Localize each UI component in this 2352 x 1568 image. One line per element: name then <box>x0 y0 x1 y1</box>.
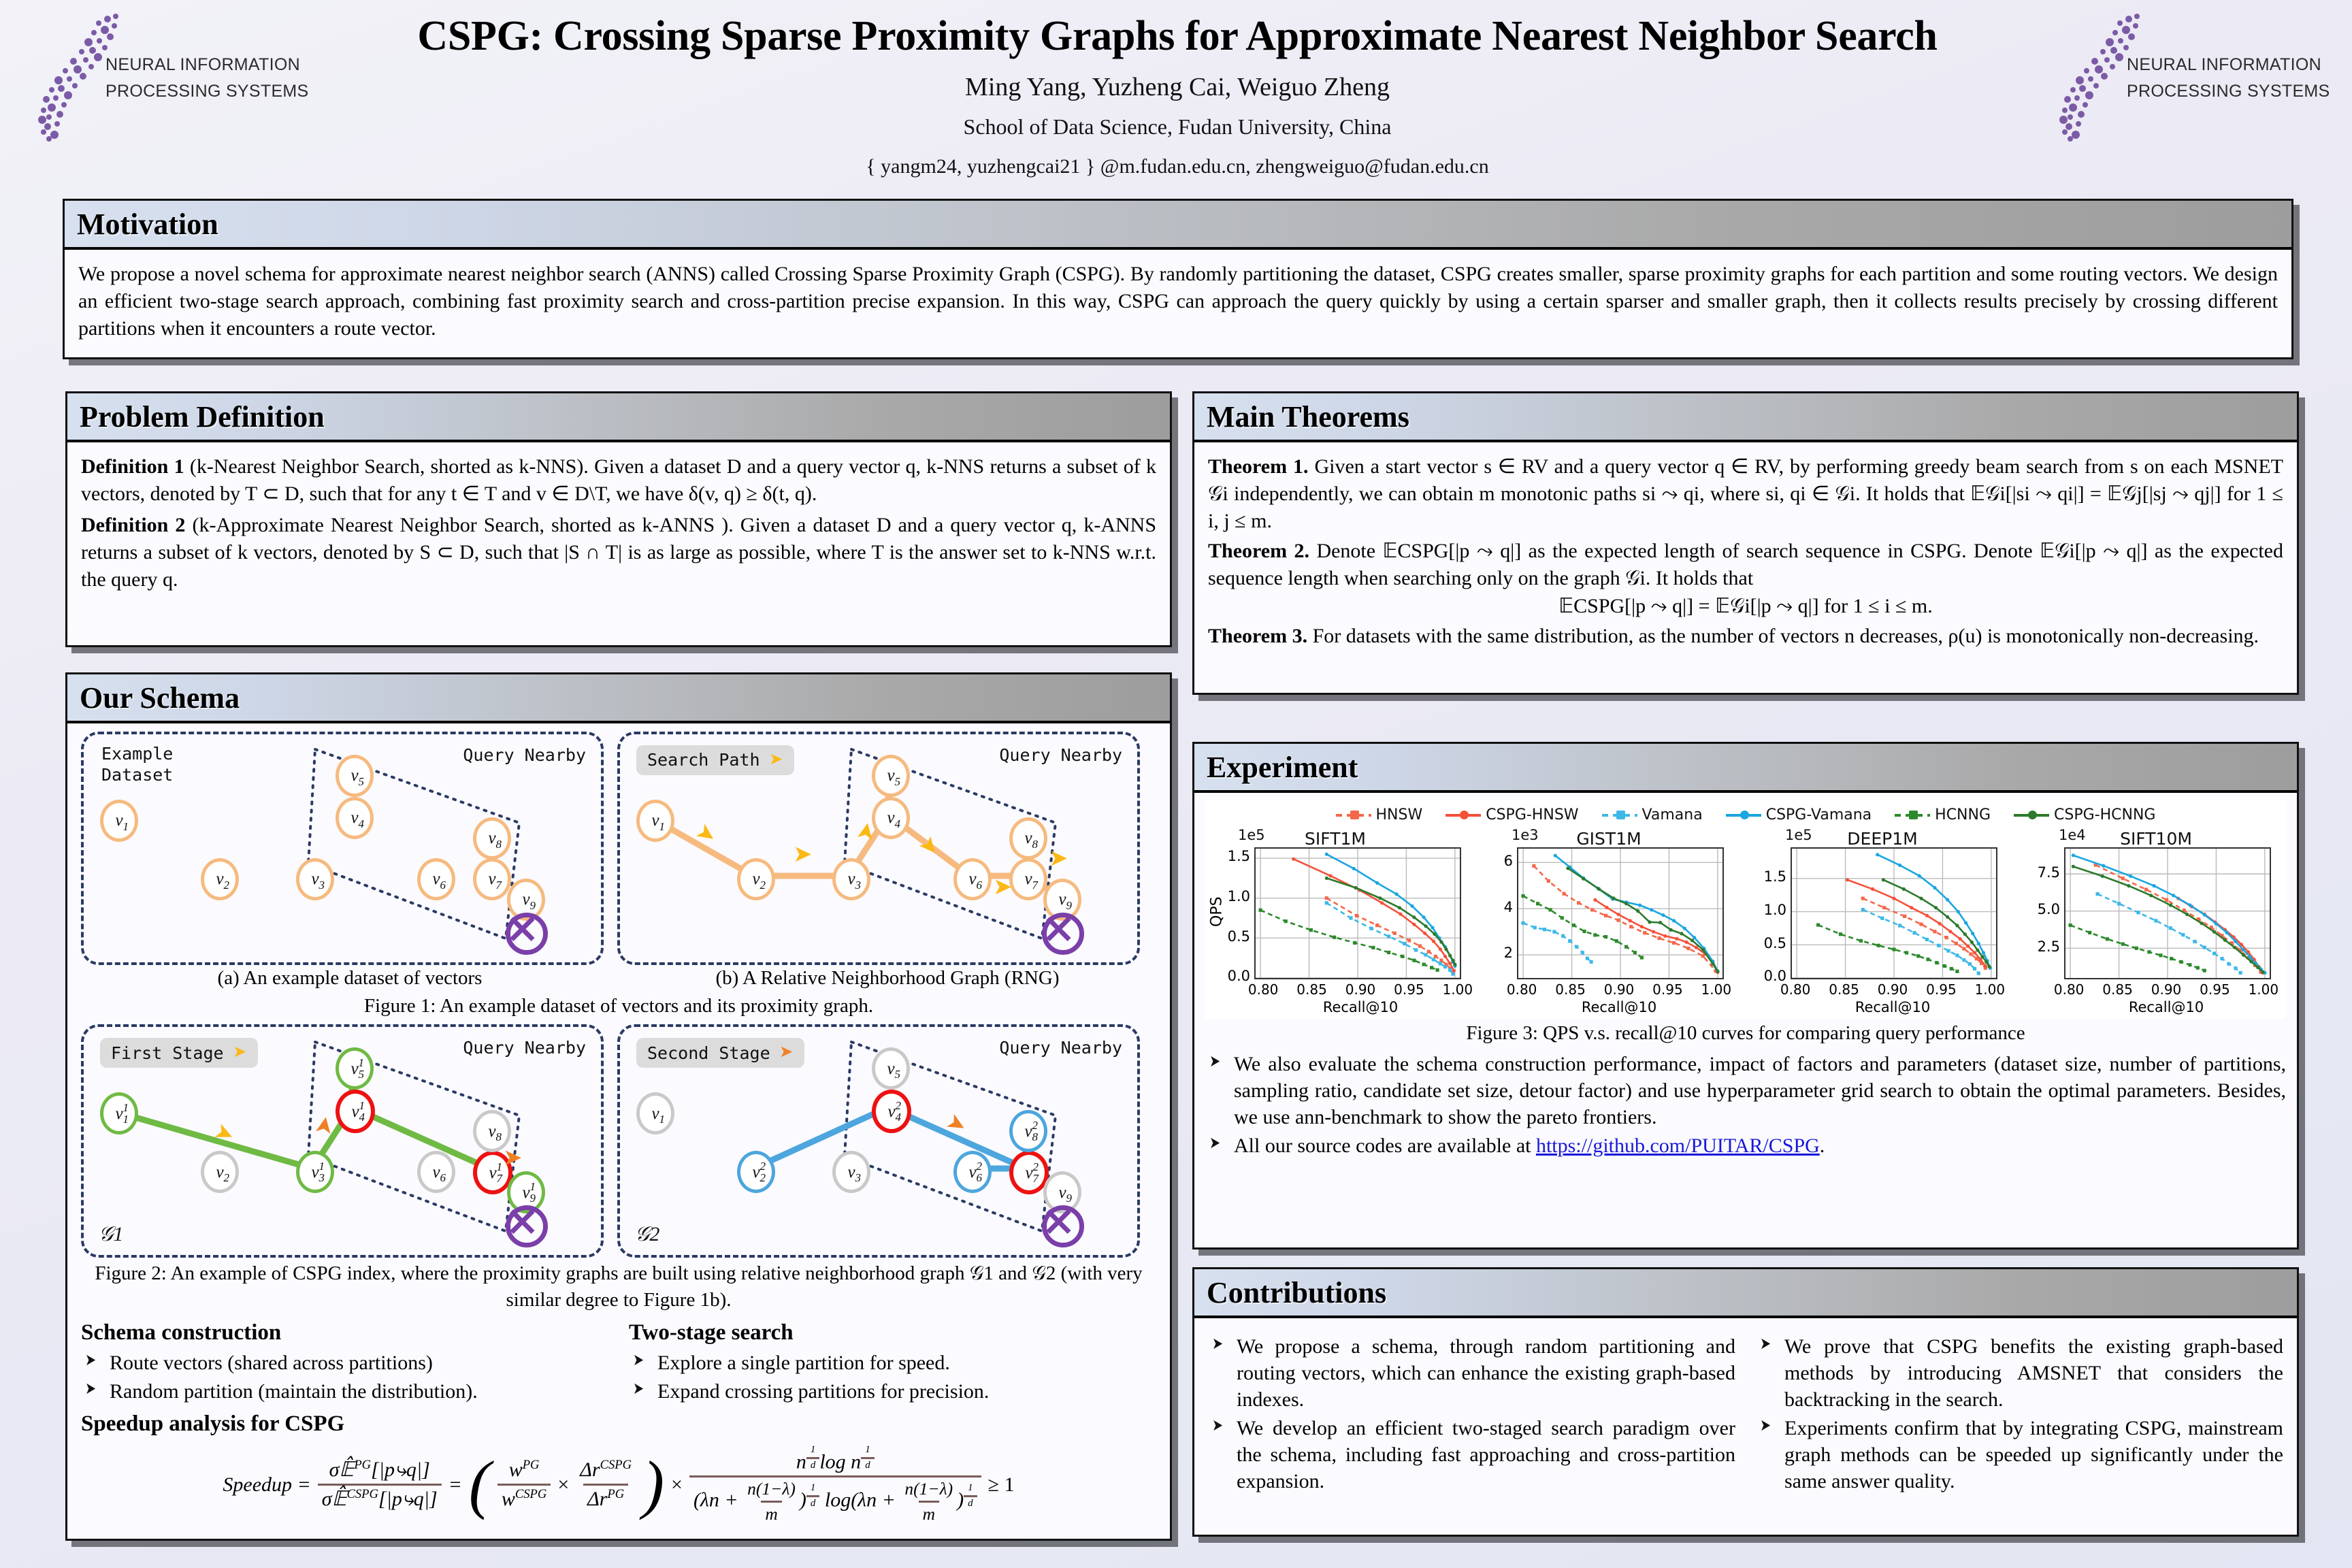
tag-line-2: Dataset <box>101 765 173 786</box>
main-theorems-panel: Main Theorems Theorem 1. Given a start v… <box>1192 391 2299 695</box>
figure-2b-legend-box: Second Stage ➤ <box>636 1038 804 1068</box>
node-v5: v5 <box>872 1047 910 1090</box>
motivation-body: We propose a novel schema for approximat… <box>65 250 2291 352</box>
x-tick-label: 1.00 <box>2249 981 2279 999</box>
theorems-title: Main Theorems <box>1207 399 1409 434</box>
figure-1b-legend-box: Search Path ➤ <box>636 745 794 775</box>
path-arrow-icon: ➤ <box>993 876 1013 899</box>
graph-1-label: 𝒢1 <box>99 1221 123 1248</box>
definition-1-label: Definition 1 <box>81 455 184 478</box>
theorem-2-label: Theorem 2. <box>1208 540 1309 562</box>
legend-label: CSPG-Vamana <box>1766 805 1872 825</box>
figure-3-charts: HNSWCSPG-HNSWVamanaCSPG-VamanaHCNNGCSPG-… <box>1205 800 2286 1019</box>
list-item: Random partition (maintain the distribut… <box>81 1378 608 1405</box>
chart-sift10m: 1e4SIFT10M2.55.07.50.800.850.900.951.00R… <box>2030 826 2282 1017</box>
two-stage-search-title: Two-stage search <box>629 1318 1156 1348</box>
x-tick-label: 0.90 <box>1604 981 1635 999</box>
y-tick-label: 6 <box>1504 852 1513 871</box>
y-tick-label: 4 <box>1504 898 1513 917</box>
node-v2: v2 <box>201 858 239 900</box>
node-v1: v1 <box>100 800 138 842</box>
definition-2-label: Definition 2 <box>81 514 185 536</box>
legend-label: CSPG-HCNNG <box>2054 805 2155 825</box>
x-axis-label: Recall@10 <box>2064 998 2268 1017</box>
neurips-logo-right: NEURAL INFORMATION PROCESSING SYSTEMS <box>2055 10 2341 146</box>
bullet-text: All our source codes are available at <box>1234 1134 1536 1157</box>
link-suffix: . <box>1820 1134 1825 1157</box>
x-tick-label: 1.00 <box>1701 981 1732 999</box>
speedup-formula: Speedup = σ𝔼̂PG[|p⤷q|] σ𝔼̂CSPG[|p⤷q|] = … <box>81 1443 1156 1526</box>
list-item: Experiments confirm that by integrating … <box>1756 1415 2283 1494</box>
node-v4: v4 <box>336 797 374 839</box>
definition-2-text: (k-Approximate Nearest Neighbor Search, … <box>81 514 1156 591</box>
second-stage-label: Second Stage <box>647 1042 770 1064</box>
contributions-columns: We propose a schema, through random part… <box>1208 1333 2283 1497</box>
contributions-right-column: We prove that CSPG benefits the existing… <box>1756 1333 2283 1497</box>
legend-line-icon <box>1602 814 1637 817</box>
schema-bullet-columns: Schema construction Route vectors (share… <box>81 1317 1156 1407</box>
node-v1: v1 <box>636 800 674 842</box>
y-tick-label: 5.0 <box>2038 900 2060 919</box>
figure-1-row: Example Dataset Query Nearby v1 v2 v3 v4… <box>81 732 1156 965</box>
theorem-1-label: Theorem 1. <box>1208 455 1309 478</box>
affiliation: School of Data Science, Fudan University… <box>272 114 2082 140</box>
x-tick-label: 0.85 <box>1555 981 1586 999</box>
chart-grid: 1e5SIFT1MQPS0.00.51.01.50.800.850.900.95… <box>1209 826 2282 1017</box>
figure-2b-panel: Second Stage ➤ Query Nearby 𝒢2 v1 v22 v3… <box>617 1024 1140 1258</box>
legend-item-cspg-vamana: CSPG-Vamana <box>1726 805 1872 825</box>
two-stage-search-list: Explore a single partition for speed. Ex… <box>629 1350 1156 1405</box>
list-item: We prove that CSPG benefits the existing… <box>1756 1333 2283 1413</box>
experiment-body: HNSWCSPG-HNSWVamanaCSPG-VamanaHCNNGCSPG-… <box>1194 793 2297 1168</box>
right-arrow-icon: ➤ <box>233 1041 247 1064</box>
node-v5: v5 <box>872 755 910 797</box>
problem-header: Problem Definition <box>67 393 1170 442</box>
x-tick-label: 0.95 <box>1926 981 1957 999</box>
x-tick-label: 0.80 <box>1780 981 1811 999</box>
figure-3-caption: Figure 3: QPS v.s. recall@10 curves for … <box>1205 1020 2286 1047</box>
node-v6: v6 <box>953 858 992 900</box>
legend-item-hnsw: HNSW <box>1336 805 1423 825</box>
y-axis-ticks: 0.00.51.01.5 <box>1757 847 1791 977</box>
poster-title: CSPG: Crossing Sparse Proximity Graphs f… <box>272 12 2082 61</box>
figure-1b-panel: Search Path ➤ Query Nearby v1 v2 v3 v4 v… <box>617 732 1140 965</box>
legend-label: Vamana <box>1642 805 1703 825</box>
theorems-header: Main Theorems <box>1194 393 2297 442</box>
node-v2-p2: v22 <box>737 1151 775 1193</box>
figure-1b-caption: (b) A Relative Neighborhood Graph (RNG) <box>619 965 1156 992</box>
legend-line-icon <box>1445 814 1481 817</box>
experiment-header: Experiment <box>1194 744 2297 793</box>
node-v6: v6 <box>417 1151 455 1193</box>
list-item: We develop an efficient two-staged searc… <box>1208 1415 1735 1494</box>
x-axis-ticks: 0.800.850.900.951.00 <box>1791 979 1995 1000</box>
legend-label: CSPG-HNSW <box>1486 805 1578 825</box>
x-axis-label: Recall@10 <box>1517 998 1721 1017</box>
list-item: We propose a schema, through random part… <box>1208 1333 1735 1413</box>
figure-1-caption: Figure 1: An example dataset of vectors … <box>81 993 1156 1019</box>
path-arrow-icon-orange: ➤ <box>503 1147 523 1170</box>
schema-title: Our Schema <box>80 681 240 715</box>
plot-area <box>1517 847 1724 979</box>
chart-sift1m: 1e5SIFT1MQPS0.00.51.01.50.800.850.900.95… <box>1209 826 1461 1017</box>
node-v5-p1: v51 <box>336 1047 374 1090</box>
query-point-icon <box>506 1205 548 1247</box>
figure-1a-panel: Example Dataset Query Nearby v1 v2 v3 v4… <box>81 732 604 965</box>
node-v8-p2: v82 <box>1009 1110 1047 1152</box>
y-axis-ticks: 0.00.51.01.5 <box>1224 847 1254 977</box>
legend-item-cspg-hcnng: CSPG-HCNNG <box>2014 805 2155 825</box>
y-tick-label: 1.0 <box>1228 887 1250 906</box>
y-tick-label: 0.5 <box>1228 928 1250 947</box>
y-tick-label: 1.5 <box>1764 868 1786 887</box>
node-v7: v7 <box>473 858 511 900</box>
x-tick-label: 0.95 <box>2200 981 2230 999</box>
node-v4-p2: v42 <box>872 1090 911 1133</box>
neurips-logo-text-right: NEURAL INFORMATION PROCESSING SYSTEMS <box>2127 52 2330 105</box>
experiment-title: Experiment <box>1207 750 1358 785</box>
author-list: Ming Yang, Yuzheng Cai, Weiguo Zheng <box>272 72 2082 102</box>
node-v7-p2: v72 <box>1009 1151 1049 1194</box>
path-arrow-icon: ➤ <box>1049 847 1068 870</box>
problem-definition-panel: Problem Definition Definition 1 (k-Neare… <box>65 391 1172 647</box>
query-point-icon <box>1042 913 1084 955</box>
two-stage-search-column: Two-stage search Explore a single partit… <box>629 1317 1156 1407</box>
y-tick-label: 1.0 <box>1764 901 1786 920</box>
x-tick-label: 0.85 <box>2102 981 2133 999</box>
poster-header: NEURAL INFORMATION PROCESSING SYSTEMS <box>0 0 2352 199</box>
node-v6: v6 <box>417 858 455 900</box>
contributions-panel: Contributions We propose a schema, throu… <box>1192 1267 2299 1537</box>
tag-line-1: Example <box>101 744 173 765</box>
schema-construction-list: Route vectors (shared across partitions)… <box>81 1350 608 1405</box>
theorem-1-text: Given a start vector s ∈ RV and a query … <box>1208 455 2283 532</box>
list-item: All our source codes are available at ht… <box>1205 1132 2286 1159</box>
figure-1a-query-nearby-label: Query Nearby <box>463 744 586 766</box>
y-axis-label: QPS <box>1209 847 1224 977</box>
plot-area <box>2064 847 2271 979</box>
motivation-header: Motivation <box>65 201 2291 250</box>
query-point-icon <box>1042 1205 1084 1247</box>
query-point-icon <box>506 913 548 955</box>
path-arrow-icon: ➤ <box>853 820 879 843</box>
y-tick-label: 0.5 <box>1764 934 1786 953</box>
x-axis-ticks: 0.800.850.900.951.00 <box>1517 979 1721 1000</box>
legend-label: HNSW <box>1376 805 1423 825</box>
node-v3: v3 <box>832 1151 870 1193</box>
figure-2a-panel: First Stage ➤ Query Nearby 𝒢1 v11 v2 v31… <box>81 1024 604 1258</box>
path-arrow-icon-orange: ➤ <box>312 1114 338 1137</box>
theorems-body: Theorem 1. Given a start vector s ∈ RV a… <box>1194 442 2297 659</box>
plot-row: 246 <box>1483 847 1735 979</box>
schema-body: Example Dataset Query Nearby v1 v2 v3 v4… <box>67 723 1170 1535</box>
problem-title: Problem Definition <box>80 399 325 434</box>
x-tick-label: 0.95 <box>1652 981 1683 999</box>
theorem-3-text: For datasets with the same distribution,… <box>1313 625 2259 647</box>
y-tick-label: 0.0 <box>1228 967 1250 986</box>
figure-1-subcaptions: (a) An example dataset of vectors (b) A … <box>81 965 1156 992</box>
contributions-body: We propose a schema, through random part… <box>1194 1318 2297 1506</box>
schema-construction-title: Schema construction <box>81 1318 608 1348</box>
motivation-title: Motivation <box>77 207 218 242</box>
figure-2-row: First Stage ➤ Query Nearby 𝒢1 v11 v2 v31… <box>81 1024 1156 1258</box>
right-arrow-icon-orange: ➤ <box>780 1041 794 1064</box>
source-code-link[interactable]: https://github.com/PUITAR/CSPG <box>1536 1134 1820 1157</box>
right-arrow-icon: ➤ <box>770 749 783 772</box>
speedup-analysis-title: Speedup analysis for CSPG <box>81 1409 1156 1439</box>
x-axis-label: Recall@10 <box>1258 998 1463 1017</box>
node-v2: v2 <box>737 858 775 900</box>
y-axis-ticks: 246 <box>1483 847 1517 977</box>
chart-legend: HNSWCSPG-HNSWVamanaCSPG-VamanaHCNNGCSPG-… <box>1209 805 2282 825</box>
node-v2: v2 <box>201 1151 239 1193</box>
figure-1b-query-nearby-label: Query Nearby <box>999 744 1122 766</box>
contributions-left-list: We propose a schema, through random part… <box>1208 1333 1735 1494</box>
x-tick-label: 0.95 <box>1394 981 1424 999</box>
plot-area <box>1254 847 1461 979</box>
figure-2b-query-nearby-label: Query Nearby <box>999 1036 1122 1059</box>
x-tick-label: 0.90 <box>2151 981 2182 999</box>
logo-line-2-right: PROCESSING SYSTEMS <box>2127 78 2330 105</box>
schema-construction-column: Schema construction Route vectors (share… <box>81 1317 608 1407</box>
motivation-panel: Motivation We propose a novel schema for… <box>63 199 2293 359</box>
email-line: { yangm24, yuzhengcai21 } @m.fudan.edu.c… <box>272 155 2082 178</box>
figure-1a-caption: (a) An example dataset of vectors <box>81 965 619 992</box>
node-v3-p1: v31 <box>296 1151 334 1193</box>
x-axis-ticks: 0.800.850.900.951.00 <box>1258 979 1463 1000</box>
list-item: Route vectors (shared across partitions) <box>81 1350 608 1376</box>
x-tick-label: 0.80 <box>1507 981 1537 999</box>
node-v1-p1: v11 <box>100 1092 138 1134</box>
x-tick-label: 0.90 <box>1878 981 1908 999</box>
legend-line-icon <box>2014 814 2049 817</box>
legend-line-icon <box>1336 814 1371 817</box>
chart-deep1m: 1e5DEEP1M0.00.51.01.50.800.850.900.951.0… <box>1757 826 2008 1017</box>
y-tick-label: 2.5 <box>2038 938 2060 957</box>
figure-2a-query-nearby-label: Query Nearby <box>463 1036 586 1059</box>
legend-line-icon <box>1895 814 1930 817</box>
contributions-left-column: We propose a schema, through random part… <box>1208 1333 1735 1497</box>
theorem-2-formula: 𝔼CSPG[|p ⤳ q|] = 𝔼𝒢i[|p ⤳ q|] for 1 ≤ i … <box>1208 593 2283 620</box>
theorem-2-text: Denote 𝔼CSPG[|p ⤳ q|] as the expected le… <box>1208 540 2283 589</box>
list-item: Explore a single partition for speed. <box>629 1350 1156 1376</box>
contributions-title: Contributions <box>1207 1275 1386 1310</box>
node-v7: v7 <box>1009 858 1047 900</box>
figure-2a-legend-box: First Stage ➤ <box>100 1038 258 1068</box>
schema-header: Our Schema <box>67 674 1170 723</box>
figure-2-caption: Figure 2: An example of CSPG index, wher… <box>81 1260 1156 1313</box>
contributions-right-list: We prove that CSPG benefits the existing… <box>1756 1333 2283 1494</box>
logo-line-1-right: NEURAL INFORMATION <box>2127 52 2330 78</box>
theorem-3-label: Theorem 3. <box>1208 625 1307 647</box>
node-v8: v8 <box>1009 817 1047 860</box>
plot-area <box>1791 847 1997 979</box>
x-tick-label: 1.00 <box>1443 981 1473 999</box>
definition-1-text: (k-Nearest Neighbor Search, shorted as k… <box>81 455 1156 505</box>
x-tick-label: 0.80 <box>2054 981 2085 999</box>
x-tick-label: 0.90 <box>1345 981 1376 999</box>
figure-1a-tag: Example Dataset <box>101 744 173 785</box>
x-tick-label: 0.85 <box>1296 981 1327 999</box>
node-v3: v3 <box>296 858 334 900</box>
list-item: Expand crossing partitions for precision… <box>629 1378 1156 1405</box>
graph-2-label: 𝒢2 <box>635 1221 659 1248</box>
first-stage-label: First Stage <box>111 1042 224 1064</box>
plot-row: 2.55.07.5 <box>2030 847 2282 979</box>
x-tick-label: 0.80 <box>1248 981 1279 999</box>
legend-line-icon <box>1726 814 1761 817</box>
list-item: We also evaluate the schema construction… <box>1205 1051 2286 1130</box>
legend-label: HCNNG <box>1935 805 1991 825</box>
node-v6-p2: v62 <box>953 1151 992 1193</box>
problem-body: Definition 1 (k-Nearest Neighbor Search,… <box>67 442 1170 602</box>
x-tick-label: 0.85 <box>1829 981 1859 999</box>
node-v8: v8 <box>473 817 511 860</box>
experiment-bullets: We also evaluate the schema construction… <box>1205 1051 2286 1159</box>
y-axis-ticks: 2.55.07.5 <box>2030 847 2064 977</box>
search-path-label: Search Path <box>647 749 760 771</box>
legend-item-vamana: Vamana <box>1602 805 1703 825</box>
x-tick-label: 1.00 <box>1975 981 2006 999</box>
experiment-panel: Experiment HNSWCSPG-HNSWVamanaCSPG-Vaman… <box>1192 742 2299 1249</box>
y-tick-label: 1.5 <box>1228 848 1250 867</box>
our-schema-panel: Our Schema Example Dataset Query Nearby … <box>65 672 1172 1541</box>
legend-item-cspg-hnsw: CSPG-HNSW <box>1445 805 1578 825</box>
x-axis-ticks: 0.800.850.900.951.00 <box>2064 979 2268 1000</box>
legend-item-hcnng: HCNNG <box>1895 805 1991 825</box>
plot-row: 0.00.51.01.5 <box>1757 847 2008 979</box>
plot-row: QPS0.00.51.01.5 <box>1209 847 1461 979</box>
node-v5: v5 <box>336 755 374 797</box>
y-tick-label: 2 <box>1504 945 1513 964</box>
node-v1: v1 <box>636 1092 674 1134</box>
chart-gist1m: 1e3GIST1M2460.800.850.900.951.00Recall@1… <box>1483 826 1735 1017</box>
path-arrow-icon: ➤ <box>793 843 813 866</box>
node-v3: v3 <box>832 858 870 900</box>
node-v4-p1: v41 <box>336 1090 375 1133</box>
contributions-header: Contributions <box>1194 1269 2297 1318</box>
y-tick-label: 7.5 <box>2038 864 2060 883</box>
x-axis-label: Recall@10 <box>1791 998 1995 1017</box>
